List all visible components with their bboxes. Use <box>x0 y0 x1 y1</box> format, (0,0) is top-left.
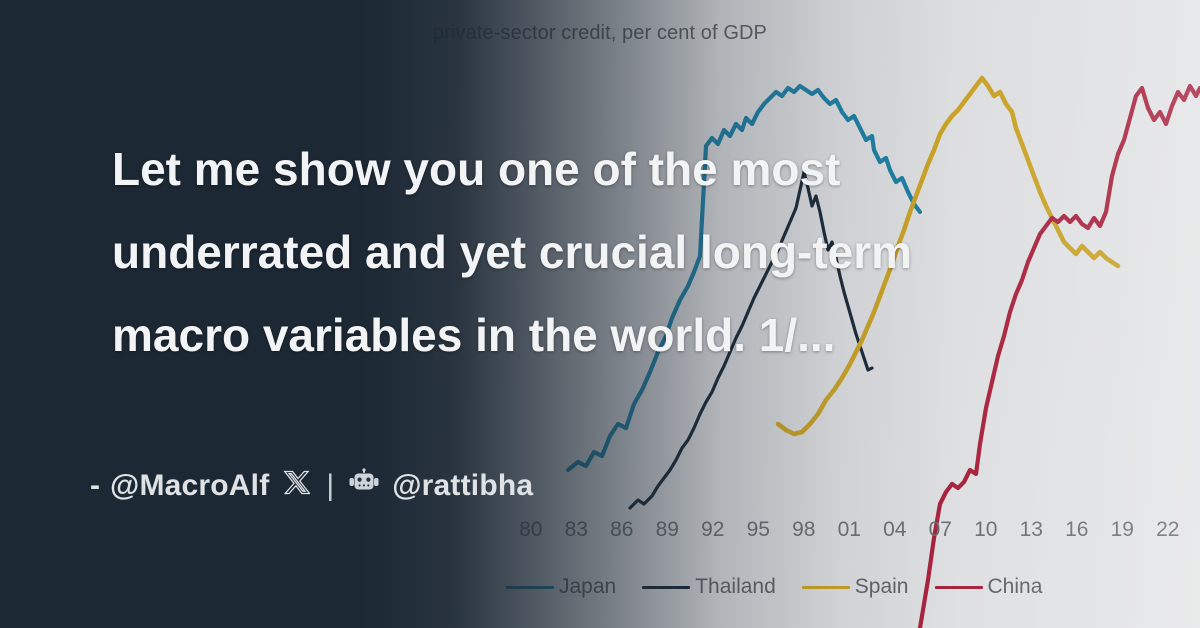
headline: Let me show you one of the most underrat… <box>112 128 1122 377</box>
card-content: Let me show you one of the most underrat… <box>0 0 1200 628</box>
headline-line-2: underrated and yet crucial long-term <box>112 211 1122 294</box>
attribution-bar: - @MacroAlf | <box>90 468 533 504</box>
headline-line-3: macro variables in the world. 1/... <box>112 294 1122 377</box>
x-logo-icon <box>283 469 310 504</box>
headline-line-1: Let me show you one of the most <box>112 128 1122 211</box>
robot-icon <box>348 468 380 504</box>
attribution-dash: - <box>90 469 100 503</box>
attribution-separator: | <box>326 469 334 503</box>
social-share-card: private-sector credit, per cent of GDP 8… <box>0 0 1200 628</box>
publisher-handle[interactable]: @rattibha <box>392 469 533 503</box>
author-handle[interactable]: @MacroAlf <box>110 469 269 503</box>
